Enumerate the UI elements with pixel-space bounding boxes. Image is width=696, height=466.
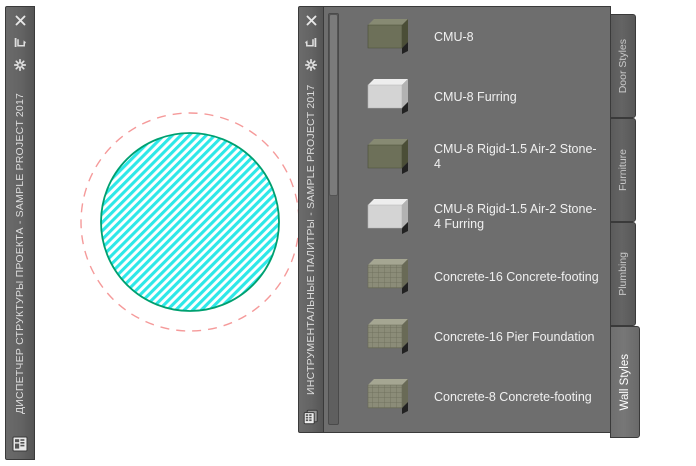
light-wall-icon[interactable] [366, 77, 412, 117]
light-wall-icon[interactable] [366, 197, 412, 237]
auto-hide-icon[interactable] [13, 36, 28, 49]
properties-icon[interactable] [304, 58, 319, 71]
tool-palettes-icon[interactable] [303, 408, 320, 425]
tool-list-item[interactable]: CMU-8 Rigid-1.5 Air-2 Stone-4 Furring [346, 187, 610, 247]
palette-tab-door-styles[interactable]: Door Styles [610, 14, 636, 118]
auto-hide-icon[interactable] [304, 36, 319, 49]
tool-list-item[interactable]: CMU-8 Furring [346, 67, 610, 127]
tool-list-item-label: CMU-8 Rigid-1.5 Air-2 Stone-4 [434, 142, 602, 172]
tool-list-item[interactable]: Concrete-16 Concrete-footing [346, 247, 610, 307]
tool-list[interactable]: CMU-8 CMU-8 Furring CMU-8 Rigid-1.5 Air-… [346, 7, 610, 432]
tool-list-item-label: Concrete-8 Concrete-footing [434, 390, 592, 405]
hatched-inner-circle[interactable] [101, 133, 279, 311]
palette-tab-label: Furniture [617, 149, 629, 191]
tool-list-item[interactable]: Concrete-16 Pier Foundation [346, 307, 610, 367]
close-icon[interactable] [304, 14, 319, 27]
tool-list-item-label: CMU-8 Furring [434, 90, 517, 105]
vertical-scrollbar[interactable] [328, 13, 339, 425]
olive-wall-icon[interactable] [366, 137, 412, 177]
palette-tab-furniture[interactable]: Furniture [610, 118, 636, 222]
tool-palettes-palette[interactable]: CMU-8 CMU-8 Furring CMU-8 Rigid-1.5 Air-… [298, 6, 638, 446]
close-icon[interactable] [13, 14, 28, 27]
scrollbar-thumb[interactable] [329, 14, 338, 196]
palette-tab-label: Door Styles [617, 39, 629, 93]
textured-wall-icon[interactable] [366, 377, 412, 417]
tool-list-item-label: CMU-8 Rigid-1.5 Air-2 Stone-4 Furring [434, 202, 602, 232]
tool-list-item[interactable]: Concrete-8 Concrete-footing [346, 367, 610, 427]
project-navigator-title: ДИСПЕТЧЕР СТРУКТУРЫ ПРОЕКТА - SAMPLE PRO… [14, 71, 26, 435]
project-navigator-icon[interactable] [12, 435, 29, 452]
tool-list-item-label: Concrete-16 Pier Foundation [434, 330, 595, 345]
olive-wall-icon[interactable] [366, 17, 412, 57]
textured-wall-icon[interactable] [366, 317, 412, 357]
tool-palettes-titlebar[interactable]: ИНСТРУМЕНТАЛЬНЫЕ ПАЛИТРЫ - SAMPLE PROJEC… [298, 6, 324, 433]
tool-palettes-content[interactable]: CMU-8 CMU-8 Furring CMU-8 Rigid-1.5 Air-… [323, 6, 611, 433]
tool-list-item[interactable]: CMU-8 [346, 7, 610, 67]
tool-list-item-label: Concrete-16 Concrete-footing [434, 270, 599, 285]
properties-icon[interactable] [13, 58, 28, 71]
palette-tab-wall-styles[interactable]: Wall Styles [610, 326, 640, 438]
palette-tab-strip[interactable]: Door StylesFurniturePlumbingWall Styles [610, 14, 640, 438]
palette-tab-label: Plumbing [617, 252, 629, 296]
palette-tab-label: Wall Styles [619, 354, 631, 410]
palette-tab-plumbing[interactable]: Plumbing [610, 222, 636, 326]
textured-wall-icon[interactable] [366, 257, 412, 297]
project-navigator-titlebar-icons[interactable] [13, 7, 28, 71]
project-navigator-palette[interactable]: ДИСПЕТЧЕР СТРУКТУРЫ ПРОЕКТА - SAMPLE PRO… [5, 6, 35, 460]
tool-list-item[interactable]: CMU-8 Rigid-1.5 Air-2 Stone-4 [346, 127, 610, 187]
tool-palettes-title: ИНСТРУМЕНТАЛЬНЫЕ ПАЛИТРЫ - SAMPLE PROJEC… [305, 71, 317, 408]
project-navigator-titlebar[interactable]: ДИСПЕТЧЕР СТРУКТУРЫ ПРОЕКТА - SAMPLE PRO… [5, 6, 35, 460]
tool-list-item-label: CMU-8 [434, 30, 474, 45]
tool-palettes-titlebar-icons[interactable] [304, 7, 319, 71]
